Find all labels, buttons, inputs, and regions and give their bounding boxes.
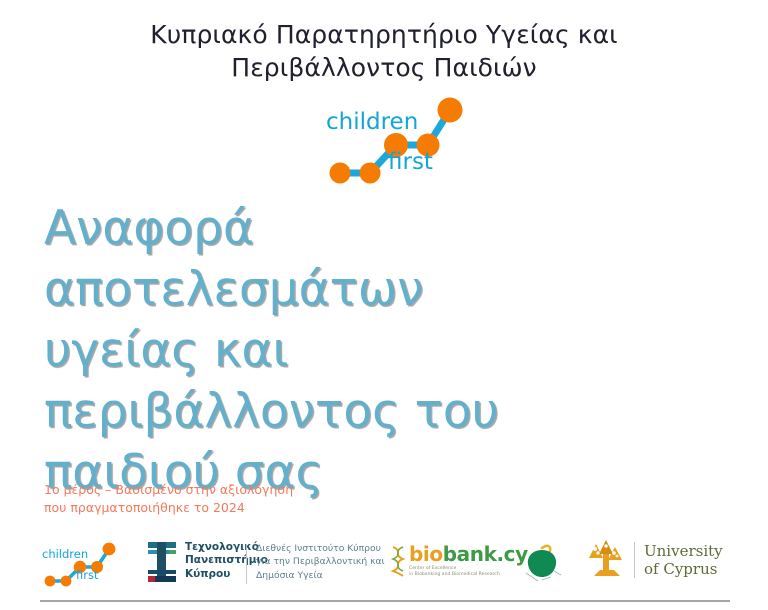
subtitle-line-1: 1ο μέρος – Βασισμένο στην αξιολόγηση (44, 481, 293, 499)
cii-name: Διεθνές Ινστιτούτο Κύπρου για την Περιβα… (256, 542, 385, 582)
page-title: Αναφορά αποτελεσμάτων υγείας και περιβάλ… (44, 198, 564, 503)
logo-word-first: first (388, 149, 433, 175)
dna-helix-icon (390, 544, 406, 578)
green-apple-icon (518, 540, 568, 588)
footer-biobank-logo: biobank.cy Center of Excellence in Bioba… (390, 544, 528, 578)
footer-apple-logo (518, 540, 568, 588)
logo-dot-1 (330, 163, 351, 184)
cii-line-2: για την Περιβαλλοντική και (256, 555, 385, 568)
children-first-logo: children first (308, 94, 478, 186)
title-line-4: περιβάλλοντος του (44, 381, 564, 442)
cii-line-3: Δημόσια Υγεία (256, 569, 385, 582)
report-cover-page: Κυπριακό Παρατηρητήριο Υγείας και Περιβά… (0, 0, 768, 610)
biobank-tagline-2: in Biobanking and Biomedical Research (409, 572, 528, 578)
title-line-3: υγείας και (44, 320, 564, 381)
footer-divider-1 (246, 544, 247, 584)
logo-word-children: children (326, 109, 418, 135)
biobank-name-part-2: bank.cy (443, 542, 528, 566)
footer-logo-word-first: first (76, 568, 99, 582)
footer-rule (40, 600, 730, 602)
biobank-tagline: Center of Excellence in Biobanking and B… (409, 566, 528, 578)
ucy-line-2: of Cyprus (644, 560, 723, 578)
page-subtitle: 1ο μέρος – Βασισμένο στην αξιολόγηση που… (44, 481, 293, 517)
footer-logo-word-children: children (42, 547, 88, 561)
footer-logo-dot-5 (103, 543, 116, 556)
page-header: Κυπριακό Παρατηρητήριο Υγείας και Περιβά… (0, 18, 768, 84)
ucy-name: University of Cyprus (644, 542, 723, 579)
footer-logo-dot-2 (61, 576, 72, 587)
header-line-2: Περιβάλλοντος Παιδιών (0, 51, 768, 84)
footer-ucy-logo: University of Cyprus (584, 538, 723, 582)
logo-dot-5 (438, 98, 463, 123)
footer-tepak-logo: Τεχνολογικό Πανεπιστήμιο Κύπρου (146, 538, 268, 584)
ucy-divider (634, 542, 635, 578)
title-line-1: Αναφορά (44, 198, 564, 259)
footer-cii-logo: Διεθνές Ινστιτούτο Κύπρου για την Περιβα… (256, 542, 385, 582)
subtitle-line-2: που πραγματοποιήθηκε το 2024 (44, 499, 293, 517)
footer-logo-dot-1 (45, 576, 56, 587)
logo-dot-2 (360, 163, 381, 184)
tepak-column-icon (146, 538, 178, 584)
title-line-2: αποτελεσμάτων (44, 259, 564, 320)
biobank-name-part-1: bio (409, 542, 443, 566)
biobank-wordmark: biobank.cy Center of Excellence in Bioba… (409, 544, 528, 578)
footer-children-first-logo: children first (34, 540, 122, 588)
biobank-name: biobank.cy (409, 544, 528, 564)
cii-line-1: Διεθνές Ινστιτούτο Κύπρου (256, 542, 385, 555)
ucy-line-1: University (644, 542, 723, 560)
footer-logo-strip: children first Τεχνολογικό Πανεπιστήμιο … (0, 534, 768, 596)
header-line-1: Κυπριακό Παρατηρητήριο Υγείας και (0, 18, 768, 51)
ucy-tree-icon (584, 538, 630, 582)
